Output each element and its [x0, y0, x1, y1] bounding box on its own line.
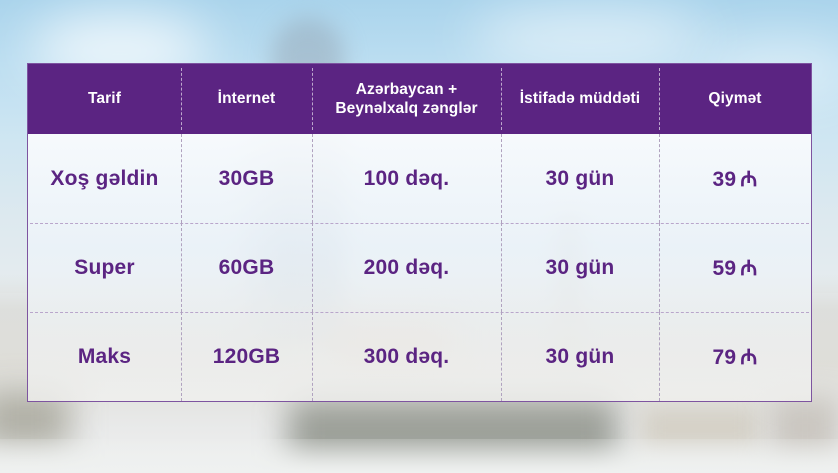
- column-header-tarif: Tarif: [28, 64, 181, 134]
- cell-tarif: Super: [28, 223, 181, 312]
- cell-price: 39 ₼: [659, 134, 811, 223]
- cell-internet: 30GB: [181, 134, 312, 223]
- table-header-row: Tarif İnternet Azərbaycan + Beynəlxalq z…: [28, 64, 811, 134]
- cell-tarif: Maks: [28, 312, 181, 401]
- column-header-duration: İstifadə müddəti: [501, 64, 659, 134]
- tariff-table: Tarif İnternet Azərbaycan + Beynəlxalq z…: [27, 63, 812, 402]
- bottom-fade: [0, 439, 838, 473]
- table-row: Xoş gəldin 30GB 100 dəq. 30 gün 39 ₼: [28, 134, 811, 223]
- price-value: 39: [713, 168, 737, 192]
- cell-duration: 30 gün: [501, 134, 659, 223]
- column-header-internet: İnternet: [181, 64, 312, 134]
- manat-currency-icon: ₼: [740, 254, 757, 282]
- column-header-calls-line2: Beynəlxalq zənglər: [335, 100, 477, 117]
- column-header-calls-line1: Azərbaycan +: [356, 81, 458, 98]
- column-header-calls: Azərbaycan + Beynəlxalq zənglər: [312, 64, 501, 134]
- table-row: Super 60GB 200 dəq. 30 gün 59 ₼: [28, 223, 811, 312]
- column-header-price: Qiymət: [659, 64, 811, 134]
- cell-duration: 30 gün: [501, 312, 659, 401]
- price-value: 79: [713, 346, 737, 370]
- cell-tarif: Xoş gəldin: [28, 134, 181, 223]
- cell-calls: 200 dəq.: [312, 223, 501, 312]
- table-body: Xoş gəldin 30GB 100 dəq. 30 gün 39 ₼ Sup…: [28, 134, 811, 401]
- cloud-blur-2: [470, 8, 710, 68]
- manat-currency-icon: ₼: [740, 165, 757, 193]
- cell-duration: 30 gün: [501, 223, 659, 312]
- cell-internet: 120GB: [181, 312, 312, 401]
- cell-internet: 60GB: [181, 223, 312, 312]
- manat-currency-icon: ₼: [740, 343, 757, 371]
- price-value: 59: [713, 257, 737, 281]
- cell-price: 79 ₼: [659, 312, 811, 401]
- cell-price: 59 ₼: [659, 223, 811, 312]
- cell-calls: 300 dəq.: [312, 312, 501, 401]
- table-row: Maks 120GB 300 dəq. 30 gün 79 ₼: [28, 312, 811, 401]
- cell-calls: 100 dəq.: [312, 134, 501, 223]
